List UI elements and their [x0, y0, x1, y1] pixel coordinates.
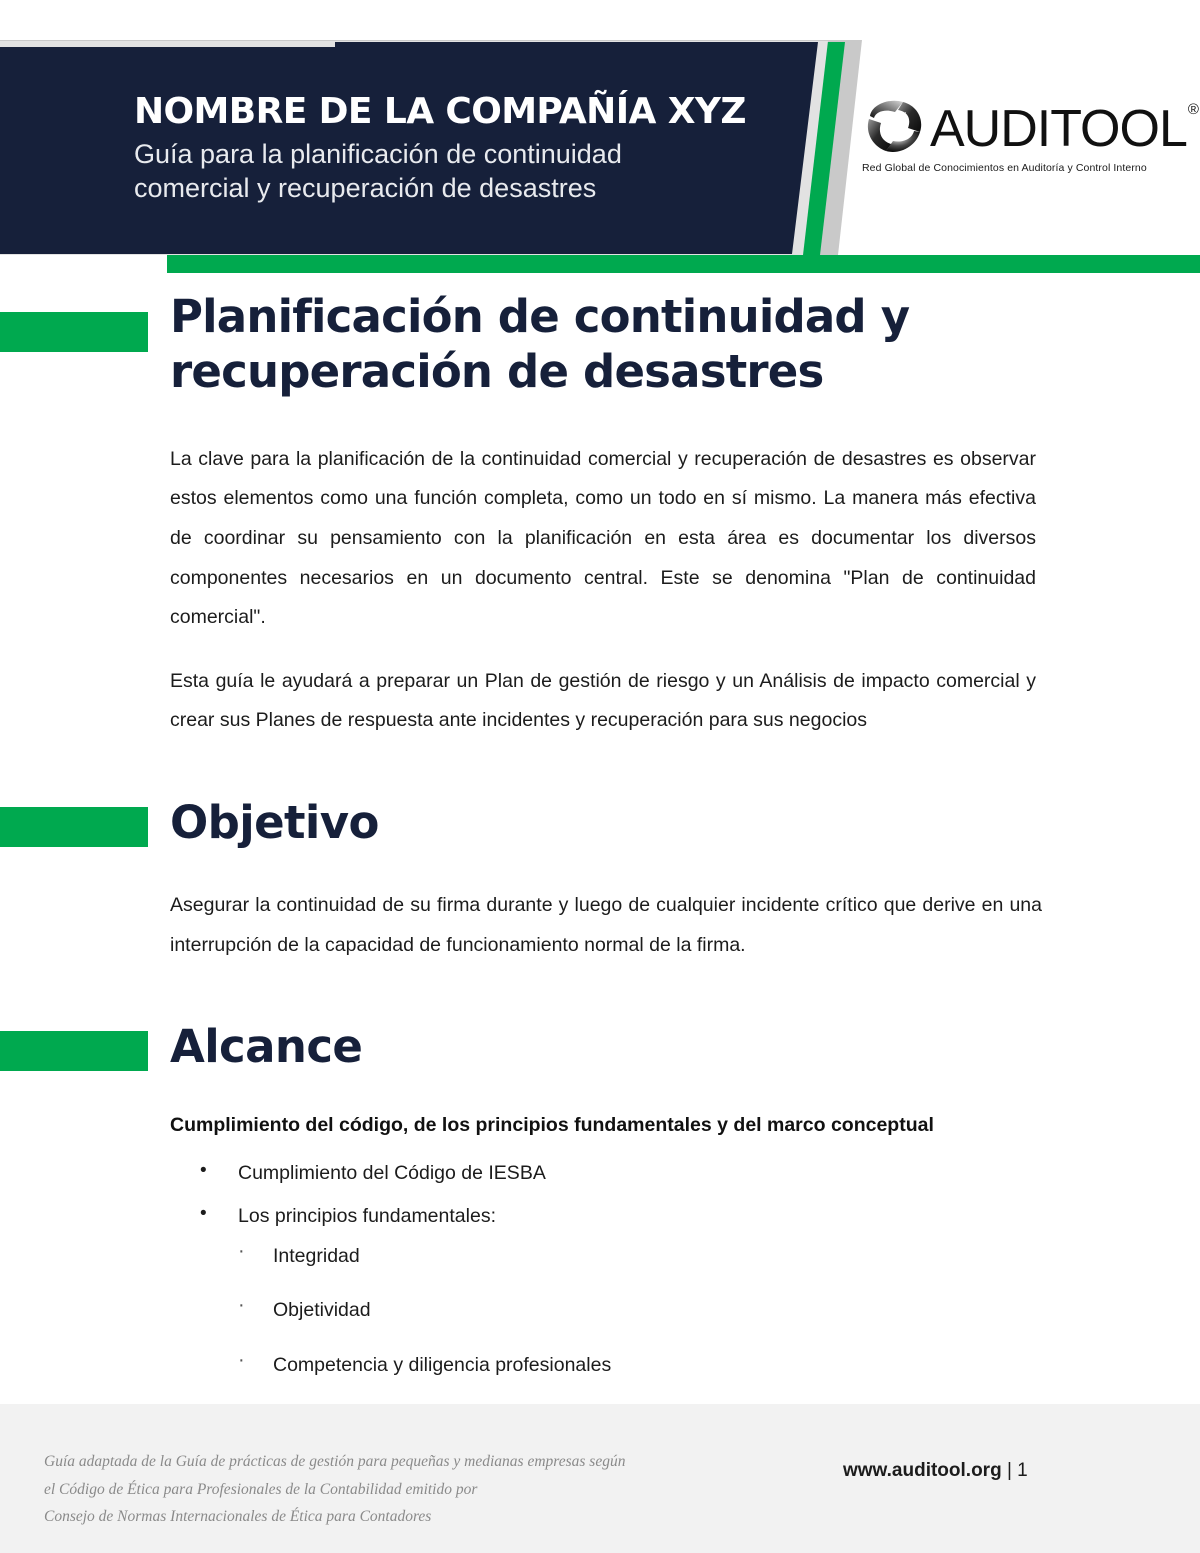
header-green-rule — [167, 255, 1200, 273]
footer-page-number: 1 — [1017, 1460, 1028, 1481]
alcance-sub-bullet-list: Integridad Objetividad Competencia y dil… — [238, 1241, 1200, 1404]
sub-list-item: Objetividad — [238, 1295, 1200, 1349]
alcance-bullet-list: Cumplimiento del Código de IESBA Los pri… — [0, 1158, 1200, 1417]
page-title-line-1: Planificación de continuidad y — [170, 290, 909, 343]
header-subtitle: Guía para la planificación de continuida… — [134, 137, 754, 206]
auditool-logo: AUDITOOL® Red Global de Conocimientos en… — [862, 96, 1172, 188]
section-title: Planificación de continuidad y recuperac… — [0, 290, 1200, 741]
list-item-label: Los principios fundamentales: — [238, 1205, 496, 1227]
logo-row: AUDITOOL® — [862, 96, 1172, 158]
auditool-swirl-icon — [862, 98, 928, 156]
green-tab-marker — [0, 312, 148, 352]
header-text-block: NOMBRE DE LA COMPAÑÍA XYZ Guía para la p… — [134, 93, 754, 206]
registered-trademark-icon: ® — [1188, 101, 1198, 118]
footer-note-line-3: Consejo de Normas Internacionales de Éti… — [44, 1503, 764, 1531]
page-title-line-2: recuperación de desastres — [170, 345, 824, 398]
sub-list-item-label: Competencia y diligencia profesionales — [273, 1354, 611, 1376]
company-name: NOMBRE DE LA COMPAÑÍA XYZ — [134, 93, 754, 131]
page-title: Planificación de continuidad y recuperac… — [0, 290, 1200, 400]
sub-list-item: Competencia y diligencia profesionales — [238, 1350, 1200, 1404]
sub-list-item-label: Objetividad — [273, 1299, 371, 1321]
green-tab-marker — [0, 1031, 148, 1071]
alcance-heading-row: Alcance — [0, 1023, 1200, 1070]
footer-note-line-2: el Código de Ética para Profesionales de… — [44, 1476, 764, 1504]
green-tab-marker — [0, 807, 148, 847]
footer-attribution-note: Guía adaptada de la Guía de prácticas de… — [44, 1448, 764, 1531]
section-heading-alcance: Alcance — [0, 1023, 1200, 1070]
alcance-lead: Cumplimiento del código, de los principi… — [0, 1110, 1200, 1141]
list-item: Cumplimiento del Código de IESBA — [170, 1158, 1200, 1201]
objetivo-paragraph: Asegurar la continuidad de su firma dura… — [0, 886, 1200, 965]
objetivo-heading-row: Objetivo — [0, 799, 1200, 846]
logo-tagline: Red Global de Conocimientos en Auditoría… — [862, 162, 1172, 174]
header-subtitle-line-1: Guía para la planificación de continuida… — [134, 137, 754, 172]
logo-wordmark: AUDITOOL® — [930, 103, 1197, 155]
section-objetivo: Objetivo Asegurar la continuidad de su f… — [0, 799, 1200, 965]
intro-paragraph-1: La clave para la planificación de la con… — [0, 440, 1200, 638]
doc-title-row: Planificación de continuidad y recuperac… — [0, 290, 1200, 400]
intro-paragraph-2: Esta guía le ayudará a preparar un Plan … — [0, 662, 1200, 741]
document-page: NOMBRE DE LA COMPAÑÍA XYZ Guía para la p… — [0, 0, 1200, 1553]
document-footer: Guía adaptada de la Guía de prácticas de… — [0, 1404, 1200, 1553]
sub-list-item-label: Integridad — [273, 1245, 360, 1267]
header-subtitle-line-2: comercial y recuperación de desastres — [134, 171, 754, 206]
section-alcance: Alcance Cumplimiento del código, de los … — [0, 1023, 1200, 1417]
footer-website-and-page: www.auditool.org | 1 — [843, 1460, 1028, 1482]
document-body: Planificación de continuidad y recuperac… — [0, 290, 1200, 1417]
footer-website-link[interactable]: www.auditool.org — [843, 1460, 1002, 1481]
section-heading-objetivo: Objetivo — [0, 799, 1200, 846]
sub-list-item: Integridad — [238, 1241, 1200, 1295]
list-item-label: Cumplimiento del Código de IESBA — [238, 1162, 546, 1184]
footer-separator: | — [1007, 1460, 1012, 1481]
list-item: Los principios fundamentales: Integridad… — [170, 1201, 1200, 1417]
footer-note-line-1: Guía adaptada de la Guía de prácticas de… — [44, 1448, 764, 1476]
document-header: NOMBRE DE LA COMPAÑÍA XYZ Guía para la p… — [0, 0, 1200, 290]
